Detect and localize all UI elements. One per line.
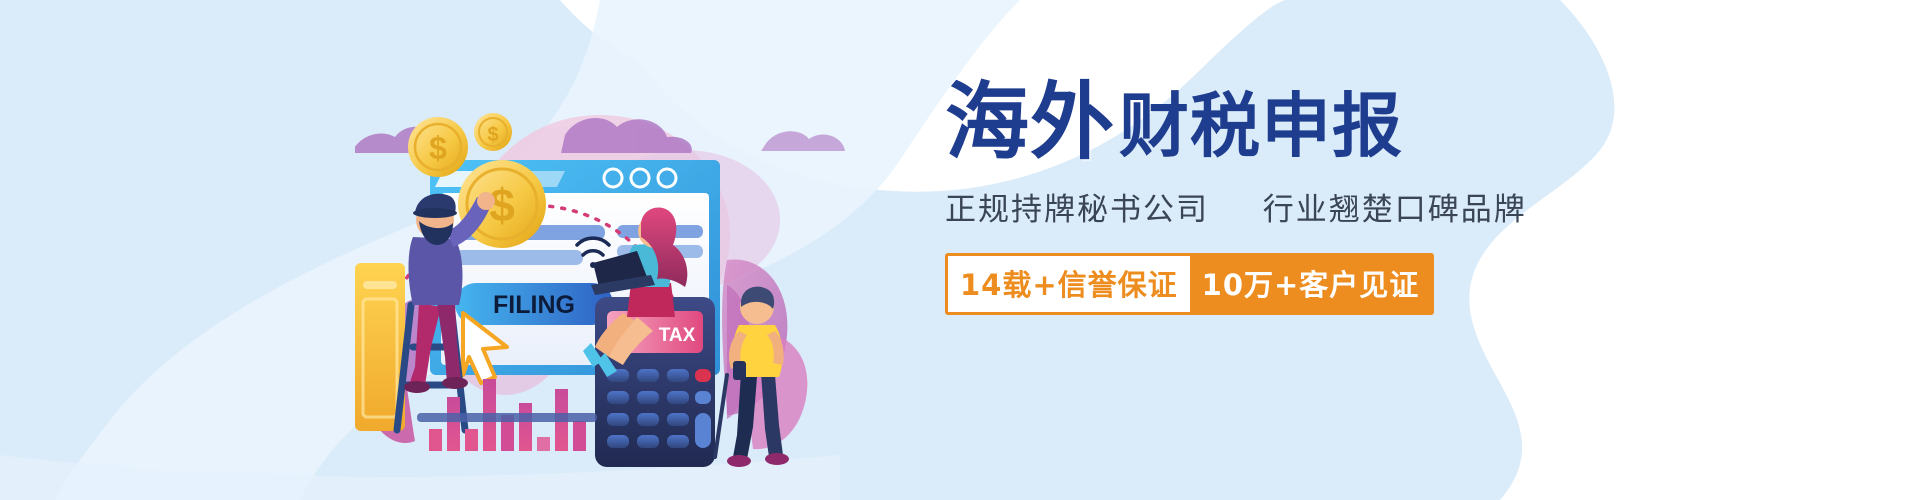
headline-primary: 海外 — [945, 80, 1115, 164]
badge-customers: 10万+客户见证 — [1190, 256, 1432, 312]
calculator-display-label: TAX — [659, 325, 696, 346]
subtitle-left: 正规持牌秘书公司 — [945, 192, 1209, 228]
hero-illustration: FILING $ $ $ — [355, 85, 915, 475]
gold-coin-medium: $ — [408, 117, 468, 177]
subtitle-right: 行业翘楚口碑品牌 — [1263, 192, 1527, 228]
badge-experience: 14载+信誉保证 — [948, 256, 1190, 312]
subtitle: 正规持牌秘书公司 行业翘楚口碑品牌 — [945, 184, 1585, 229]
filing-button-label: FILING — [493, 291, 575, 319]
headline: 海外 财税申报 — [945, 80, 1585, 164]
text-content: 海外 财税申报 正规持牌秘书公司 行业翘楚口碑品牌 14载+信誉保证 10万+客… — [945, 80, 1585, 315]
badge-group: 14载+信誉保证 10万+客户见证 — [945, 253, 1434, 315]
coin-symbol: $ — [429, 130, 447, 166]
gold-coin-small: $ — [474, 113, 512, 151]
headline-secondary: 财税申报 — [1119, 91, 1403, 161]
banner-root: FILING $ $ $ — [0, 0, 1920, 500]
illustration-svg: FILING $ $ $ — [355, 85, 915, 475]
filing-button[interactable]: FILING — [455, 283, 613, 325]
coin-symbol: $ — [487, 124, 498, 146]
calculator-key-red — [695, 369, 711, 382]
